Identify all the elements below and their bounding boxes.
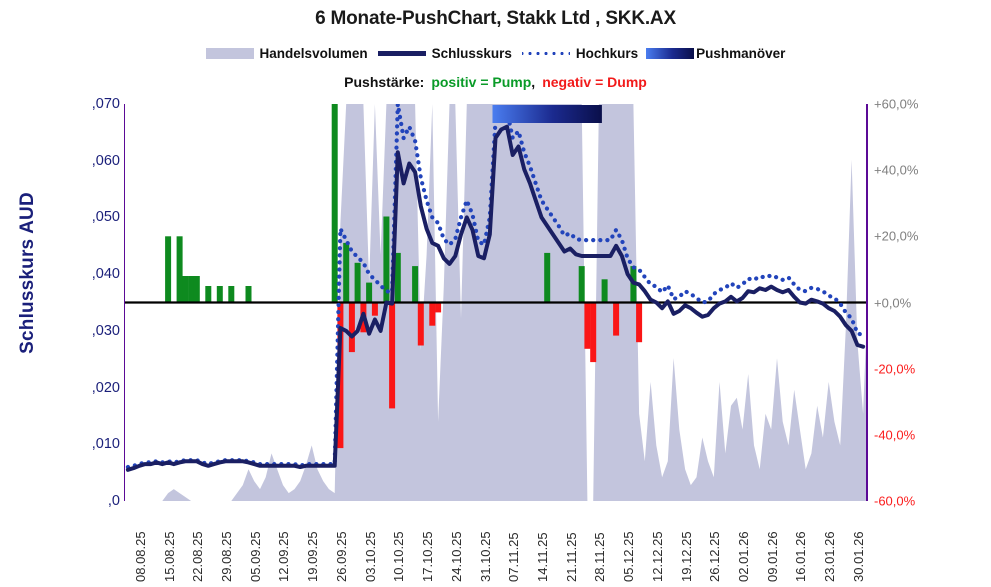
y-tick-left: ,010 [62, 436, 120, 452]
push-bar-positive [217, 286, 223, 303]
push-bar-negative [584, 303, 590, 349]
push-bar-positive [205, 286, 211, 303]
y-tick-right: +0,0% [874, 295, 948, 310]
close-line-swatch-icon [378, 51, 426, 56]
push-bar-negative [613, 303, 619, 336]
y-tick-left: ,070 [62, 96, 120, 112]
legend-label-volume: Handelsvolumen [260, 46, 368, 61]
legend-label-close: Schlusskurs [432, 46, 512, 61]
push-bar-positive [366, 283, 372, 303]
push-bar-positive [177, 236, 183, 302]
push-bar-positive [188, 276, 194, 303]
push-note-negative: negativ = Dump [542, 74, 647, 90]
push-maneuver-band [493, 105, 602, 123]
y-tick-right: -40,0% [874, 427, 948, 442]
legend-item-volume[interactable]: Handelsvolumen [206, 46, 368, 61]
push-bar-negative [372, 303, 378, 316]
legend-item-push[interactable]: Pushmanöver [638, 46, 785, 61]
push-strength-note: Pushstärke:positiv = Pump,negativ = Dump [0, 74, 991, 90]
push-bar-positive [343, 243, 349, 303]
y-tick-right: -20,0% [874, 361, 948, 376]
plot-area[interactable] [125, 104, 866, 501]
push-bar-positive [228, 286, 234, 303]
push-note-separator: , [531, 74, 535, 90]
y-tick-right: +60,0% [874, 97, 948, 112]
y-tick-left: ,020 [62, 380, 120, 396]
push-bar-positive [246, 286, 252, 303]
y-tick-left: ,030 [62, 323, 120, 339]
legend-label-high: Hochkurs [576, 46, 638, 61]
y-tick-right: +20,0% [874, 229, 948, 244]
y-tick-left: ,050 [62, 209, 120, 225]
y-axis-label: Schlusskurs AUD [17, 83, 39, 463]
push-note-prefix: Pushstärke: [344, 74, 424, 90]
push-bar-negative [435, 303, 441, 313]
push-bar-positive [544, 253, 550, 303]
chart-legend: Handelsvolumen Schlusskurs Hochkurs Push… [0, 46, 991, 61]
push-bar-positive [182, 276, 188, 303]
push-bar-positive [194, 276, 200, 303]
push-bar-negative [590, 303, 596, 363]
push-bar-positive [355, 263, 361, 303]
high-dotted-swatch-icon [522, 51, 570, 56]
y-tick-left: ,040 [62, 266, 120, 282]
push-bar-positive [602, 279, 608, 302]
y-axis-right-line [866, 104, 868, 501]
push-bar-negative [636, 303, 642, 343]
page-title: 6 Monate-PushChart, Stakk Ltd , SKK.AX [0, 8, 991, 30]
legend-item-high[interactable]: Hochkurs [512, 46, 638, 61]
push-bar-positive [579, 266, 585, 302]
push-chart: 6 Monate-PushChart, Stakk Ltd , SKK.AX H… [0, 0, 991, 587]
y-tick-right: +40,0% [874, 163, 948, 178]
push-bar-negative [418, 303, 424, 346]
plot-svg [125, 104, 866, 501]
push-bar-positive [332, 104, 338, 303]
push-bar-positive [165, 236, 171, 302]
push-bar-negative [429, 303, 435, 326]
push-bar-negative [389, 303, 395, 409]
push-gradient-swatch-icon [646, 48, 694, 59]
x-axis-ticks: 08.08.2515.08.2522.08.2529.08.2505.09.25… [0, 500, 991, 587]
y-tick-left: ,060 [62, 153, 120, 169]
push-bar-positive [412, 266, 418, 302]
y-axis-right-ticks: +60,0%+40,0%+20,0%+0,0%-20,0%-40,0%-60,0… [874, 0, 954, 587]
push-bar-negative [349, 303, 355, 353]
legend-label-push: Pushmanöver [696, 46, 785, 61]
push-note-positive: positiv = Pump [431, 74, 531, 90]
volume-swatch-icon [206, 48, 254, 59]
legend-item-close[interactable]: Schlusskurs [368, 46, 512, 61]
y-axis-left-ticks: ,070,060,050,040,030,020,010,0 [62, 0, 120, 587]
